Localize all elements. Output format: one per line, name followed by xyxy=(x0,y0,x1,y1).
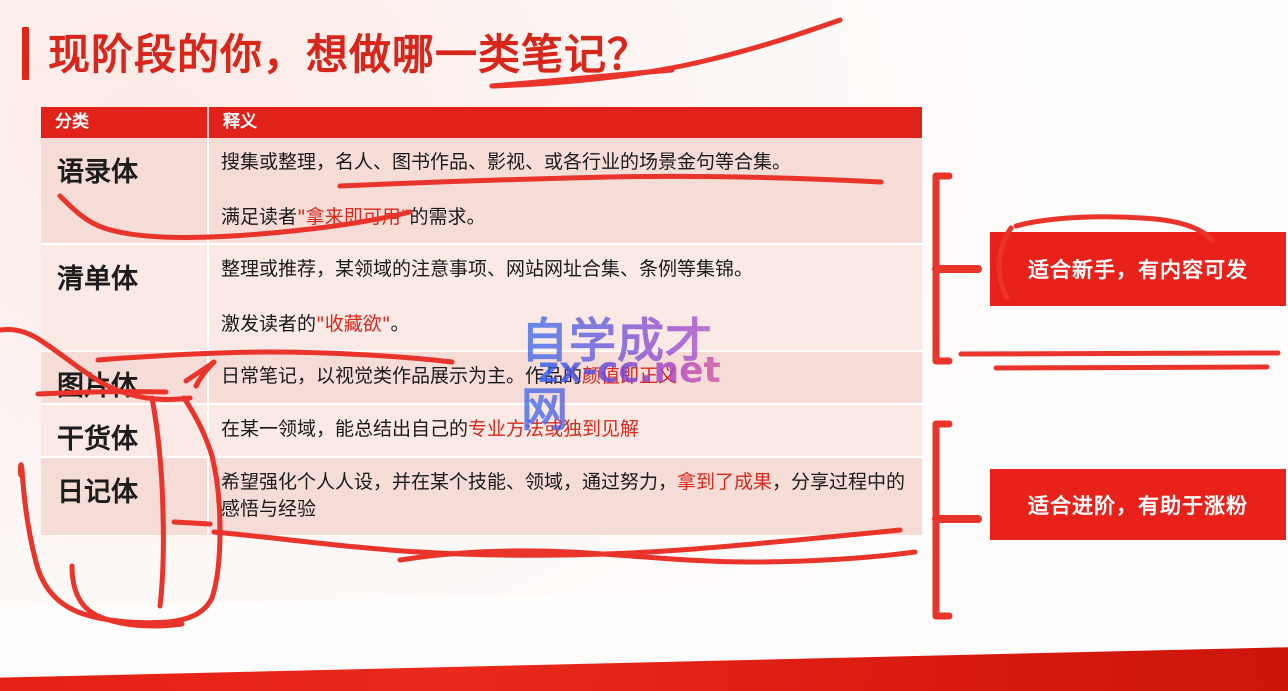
definition-highlight: "拿来即可用" xyxy=(297,206,409,228)
row-definition: 在某一领域，能总结出自己的专业方法或独到见解 xyxy=(208,404,922,457)
table-row: 干货体在某一领域，能总结出自己的专业方法或独到见解 xyxy=(41,404,922,457)
definition-text: 希望强化个人人设，并在某个技能、领域，通过努力， xyxy=(221,471,677,493)
definition-highlight: 颜值即正义 xyxy=(582,365,677,387)
definition-text: 整理或推荐，某领域的注意事项、网站网址合集、条例等集锦。 xyxy=(221,258,753,280)
table-row: 清单体整理或推荐，某领域的注意事项、网站网址合集、条例等集锦。激发读者的"收藏欲… xyxy=(41,244,922,351)
row-category: 清单体 xyxy=(41,244,208,351)
callout-advanced: 适合进阶，有助于涨粉 xyxy=(990,469,1286,540)
bracket-beginner xyxy=(936,176,978,361)
table-row: 图片体日常笔记，以视觉类作品展示为主。作品的颜值即正义 xyxy=(41,351,922,404)
annotation-line-right-1 xyxy=(961,353,1278,354)
row-category: 日记体 xyxy=(41,457,208,535)
note-type-table: 分类 释义 语录体搜集或整理，名人、图书作品、影视、或各行业的场景金句等合集。满… xyxy=(41,107,922,535)
row-definition: 整理或推荐，某领域的注意事项、网站网址合集、条例等集锦。激发读者的"收藏欲"。 xyxy=(208,244,922,351)
slide-canvas: 现阶段的你，想做哪一类笔记？ 分类 释义 语录体搜集或整理，名人、图书作品、影视… xyxy=(0,0,1288,691)
table-row: 日记体希望强化个人人设，并在某个技能、领域，通过努力，拿到了成果，分享过程中的感… xyxy=(41,457,922,535)
column-header-definition: 释义 xyxy=(208,107,922,138)
definition-text: 搜集或整理，名人、图书作品、影视、或各行业的场景金句等合集。 xyxy=(221,151,791,173)
annotation-left-lasso-2 xyxy=(21,465,23,475)
definition-text: 的需求。 xyxy=(410,206,486,228)
title-accent-bar xyxy=(22,27,29,80)
definition-highlight: "收藏欲" xyxy=(316,313,390,335)
table-body: 语录体搜集或整理，名人、图书作品、影视、或各行业的场景金句等合集。满足读者"拿来… xyxy=(41,138,922,535)
column-header-category: 分类 xyxy=(41,107,208,138)
row-category: 语录体 xyxy=(41,138,208,244)
annotation-line-right-2 xyxy=(996,367,1267,368)
table-row: 语录体搜集或整理，名人、图书作品、影视、或各行业的场景金句等合集。满足读者"拿来… xyxy=(41,138,922,244)
page-title: 现阶段的你，想做哪一类笔记？ xyxy=(48,21,650,82)
row-category: 干货体 xyxy=(41,404,208,457)
definition-highlight: 拿到了成果 xyxy=(677,471,772,493)
row-definition: 希望强化个人人设，并在某个技能、领域，通过努力，拿到了成果，分享过程中的感悟与经… xyxy=(208,457,922,535)
row-definition: 日常笔记，以视觉类作品展示为主。作品的颜值即正义 xyxy=(208,351,922,404)
definition-text: 满足读者 xyxy=(221,206,297,228)
definition-text: 激发读者的 xyxy=(221,313,316,335)
row-definition: 搜集或整理，名人、图书作品、影视、或各行业的场景金句等合集。满足读者"拿来即可用… xyxy=(208,138,922,244)
row-category: 图片体 xyxy=(41,351,208,404)
definition-text: 日常笔记，以视觉类作品展示为主。作品的 xyxy=(221,365,582,387)
definition-highlight: 专业方法或独到见解 xyxy=(468,418,639,440)
definition-text: 在某一领域，能总结出自己的 xyxy=(221,418,468,440)
annotation-row5-top xyxy=(400,551,915,562)
callout-beginner: 适合新手，有内容可发 xyxy=(990,232,1286,306)
table-header-row: 分类 释义 xyxy=(41,107,922,138)
definition-text: 。 xyxy=(391,313,410,335)
